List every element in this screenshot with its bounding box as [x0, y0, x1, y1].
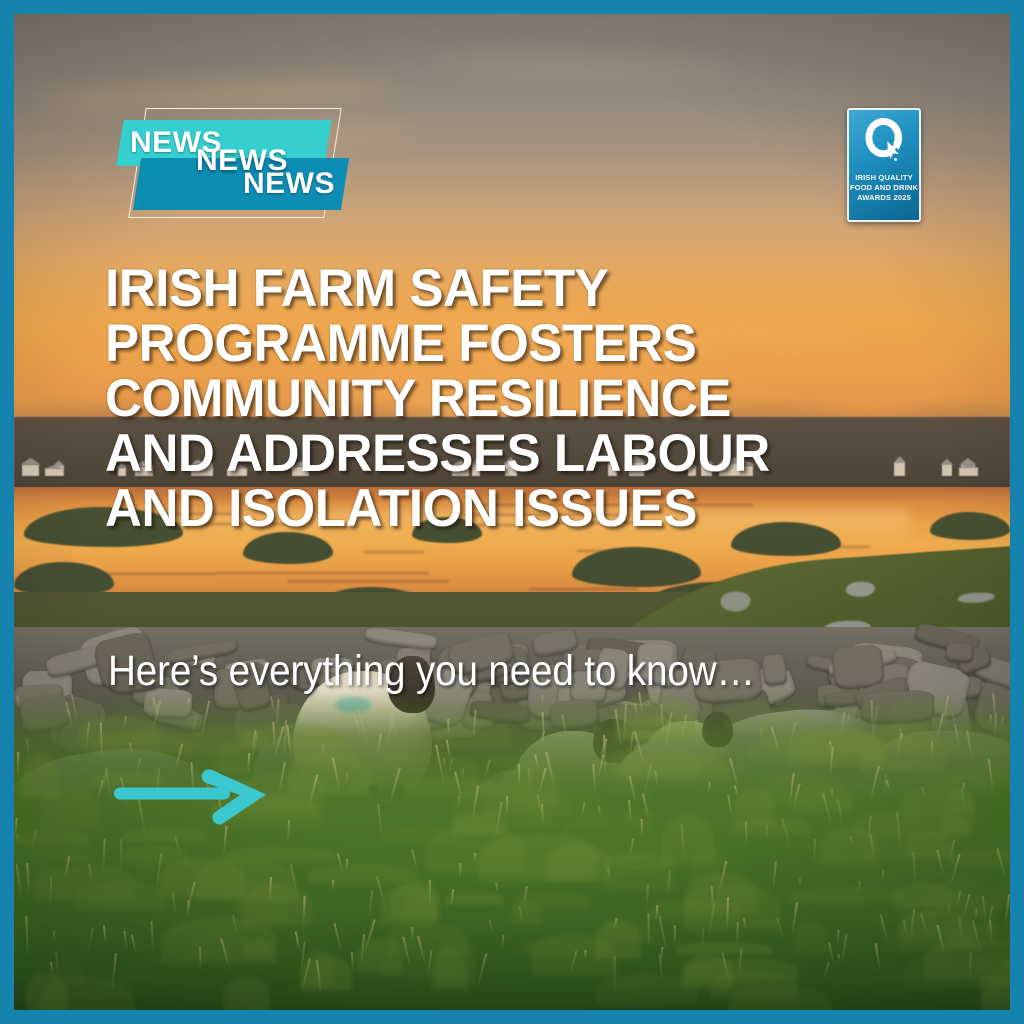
poster-canvas: NEWS NEWS NEWS IRISH QUALITY FOOD AND DR… [14, 14, 1010, 1010]
water-reflection-streak [364, 551, 424, 553]
grass-blade [368, 891, 373, 917]
grass-blade [53, 931, 55, 940]
cottage [45, 469, 64, 476]
grass-blade [187, 698, 190, 707]
grass-blade [561, 715, 567, 736]
grass-blade [346, 859, 348, 872]
grass-blade [584, 950, 587, 959]
grass-blade [886, 780, 891, 792]
grass-tuft [16, 830, 90, 844]
grass-blade [87, 928, 94, 955]
grass-blade [614, 956, 616, 994]
headline-line-3: COMMUNITY RESILIENCE [105, 371, 916, 426]
badge-text: IRISH QUALITY FOOD AND DRINK AWARDS 2025 [850, 173, 918, 203]
hillside-rock [845, 581, 875, 598]
grass-blade [120, 839, 122, 873]
grass-tuft [40, 785, 98, 830]
grass-blade [495, 883, 499, 892]
badge-line-3: AWARDS 2025 [850, 193, 918, 203]
wall-stone [762, 654, 789, 687]
grass-blade [71, 695, 79, 725]
grass-blade [841, 934, 847, 965]
grass-tuft [623, 755, 730, 779]
hillside-rock [957, 591, 995, 603]
grass-blade [476, 953, 487, 989]
news-label-middle: NEWS [196, 146, 288, 176]
grass-blade [707, 782, 711, 795]
grass-tuft [724, 699, 774, 730]
cottage [22, 465, 38, 476]
grass-tuft [596, 974, 698, 1002]
grass-tuft [124, 828, 207, 842]
grass-blade [655, 905, 658, 923]
water-reflection-streak [103, 573, 216, 575]
grass-tuft [603, 866, 676, 891]
grass-blade [828, 942, 835, 964]
news-logo[interactable]: NEWS NEWS NEWS [120, 100, 350, 230]
grass-blade [103, 925, 107, 944]
headline-line-2: PROGRAMME FOSTERS [105, 316, 916, 371]
grass-tuft [384, 826, 459, 843]
grass-blade [931, 741, 933, 757]
grass-blade [378, 804, 384, 841]
grass-blade [952, 712, 957, 726]
grass-blade [880, 914, 889, 946]
grass-tuft [242, 884, 312, 925]
grass-blade [845, 714, 851, 728]
water-reflection-streak [288, 580, 449, 582]
headline-line-4: AND ADDRESSES LABOUR [105, 426, 916, 481]
grass-tuft [790, 887, 906, 903]
grass-tuft [676, 942, 772, 956]
grass-blade [660, 947, 663, 961]
water-reflection-streak [216, 572, 429, 574]
grass-blade [736, 922, 739, 945]
grass-blade [592, 764, 596, 790]
news-poster: NEWS NEWS NEWS IRISH QUALITY FOOD AND DR… [0, 0, 1024, 1024]
grass-tuft [380, 956, 455, 977]
grass-tuft [75, 881, 165, 911]
grass-blade [26, 863, 30, 896]
grass-blade [16, 864, 23, 903]
grass-tuft [223, 977, 270, 1010]
grass-blade [673, 925, 675, 946]
water-reflection-streak [529, 588, 638, 590]
grass-tuft [603, 854, 674, 870]
grass-blade [772, 862, 777, 892]
grass-blade [646, 885, 649, 907]
grass-blade [322, 743, 324, 754]
grass-tuft [615, 694, 695, 742]
grass-blade [831, 789, 833, 798]
grass-blade [726, 897, 729, 932]
grass-tuft [223, 847, 336, 862]
grass-blade [884, 774, 887, 797]
grass-blade [727, 795, 733, 818]
grass-blade [823, 962, 830, 978]
badge-line-2: FOOD AND DRINK [850, 183, 918, 193]
grass-blade [501, 935, 504, 951]
wall-stone [946, 642, 974, 662]
grass-blade [837, 954, 841, 962]
grass-blade [287, 820, 290, 845]
grass-blade [799, 878, 801, 888]
grass-tuft [387, 922, 467, 956]
grass-blade [351, 952, 354, 971]
grass-blade [270, 696, 276, 714]
grass-tuft [406, 878, 440, 920]
news-label-middle-wrap: NEWS [194, 146, 291, 176]
grass-blade [380, 703, 385, 727]
grass-blade [295, 931, 301, 953]
grass-blade [49, 877, 52, 910]
grass-tuft [308, 864, 417, 883]
grass-blade [695, 720, 698, 733]
grass-blade [336, 704, 339, 729]
grass-blade [26, 739, 30, 762]
grass-tuft [544, 844, 610, 881]
grass-blade [869, 766, 880, 801]
grass-blade [874, 943, 880, 972]
grass-blade [151, 921, 155, 953]
badge-line-1: IRISH QUALITY [850, 173, 918, 183]
grass-blade [881, 870, 884, 880]
hillside-rock [720, 590, 752, 612]
grass-tuft [793, 922, 828, 954]
subtitle: Here’s everything you need to know… [108, 650, 755, 693]
grass-blade [131, 934, 137, 954]
grass-tuft [942, 789, 975, 834]
grass-blade [371, 704, 380, 736]
grass-blade [25, 916, 29, 956]
grass-blade [647, 913, 650, 948]
grass-blade [124, 931, 129, 949]
grass-blade [473, 853, 475, 861]
foreground-grass [14, 691, 1010, 1010]
grass-blade [702, 928, 704, 948]
page-title: IRISH FARM SAFETY PROGRAMME FOSTERS COMM… [105, 261, 945, 536]
grass-blade [199, 947, 202, 972]
grass-blade [813, 839, 816, 864]
grass-tuft [159, 858, 244, 898]
headline-line-1: IRISH FARM SAFETY [105, 261, 916, 316]
grass-blade [17, 696, 21, 710]
grass-blade [411, 927, 413, 940]
grass-blade [17, 752, 19, 777]
grass-tuft [363, 753, 478, 788]
grass-blade [411, 850, 418, 870]
grass-blade [377, 734, 382, 755]
quality-q-icon [860, 115, 908, 171]
irish-quality-award-badge[interactable]: IRISH QUALITY FOOD AND DRINK AWARDS 2025 [847, 108, 921, 222]
right-arrow-icon[interactable] [114, 766, 284, 828]
grass-tuft [79, 716, 160, 745]
cottage [959, 468, 978, 475]
grass-blade [542, 712, 545, 746]
grass-blade [765, 825, 767, 840]
grass-blade [429, 880, 431, 905]
grass-blade [333, 923, 343, 954]
grass-blade [541, 695, 544, 705]
grass-blade [837, 930, 839, 944]
headline-line-5: AND ISOLATION ISSUES [105, 481, 916, 536]
grass-blade [489, 920, 494, 934]
grass-tuft [242, 941, 273, 955]
grass-blade [629, 775, 637, 803]
